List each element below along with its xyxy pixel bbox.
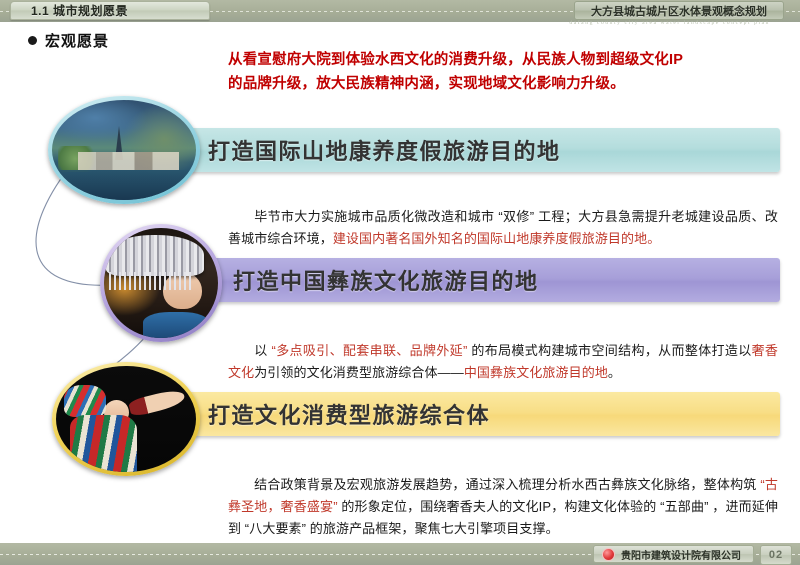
page-number: 02 (769, 549, 783, 561)
macro-vision-heading: 宏观愿景 (28, 30, 109, 51)
paragraph-mountain-wellness: 毕节市大力实施城市品质化微改造和城市 “双修” 工程；大方县急需提升老城建设品质… (228, 206, 778, 250)
photo-ethnic-dancer (56, 366, 196, 472)
footer-bar: 贵阳市建筑设计院有限公司 02 (0, 543, 800, 565)
macro-vision-label: 宏观愿景 (45, 30, 109, 51)
section-tab[interactable]: 1.1 城市规划愿景 (10, 1, 210, 20)
headline-line-1: 从看宣慰府大院到体验水西文化的消费升级，从民族人物到超级文化IP (228, 48, 773, 72)
photo-circle-alpine-town (48, 96, 200, 204)
banner-culture-complex[interactable]: 打造文化消费型旅游综合体 (160, 392, 780, 436)
banner-label: 打造国际山地康养度假旅游目的地 (208, 134, 561, 166)
paragraph-yi-culture: 以 “多点吸引、配套串联、品牌外延” 的布局模式构建城市空间结构，从而整体打造以… (228, 340, 778, 384)
photo-dancer-hat (64, 385, 106, 417)
photo-headdress-fringe (109, 272, 191, 290)
photo-dancer-costume (70, 415, 137, 472)
photo-circle-yi-woman (100, 224, 222, 342)
bullet-dot-icon (28, 36, 37, 45)
banner-yi-culture[interactable]: 打造中国彝族文化旅游目的地 (185, 258, 780, 302)
para-text: 结合政策背景及宏观旅游发展趋势，通过深入梳理分析水西古彝族文化脉络，整体构筑 (254, 477, 760, 492)
photo-collar (143, 312, 209, 338)
company-name: 贵阳市建筑设计院有限公司 (621, 547, 741, 562)
photo-alpine-town (52, 100, 196, 200)
photo-yi-woman (104, 228, 218, 338)
headline-statement: 从看宣慰府大院到体验水西文化的消费升级，从民族人物到超级文化IP 的品牌升级，放… (228, 48, 773, 96)
para-text: 为引领的文化消费型旅游综合体—— (254, 365, 464, 380)
headline-line-2: 的品牌升级，放大民族精神内涵，实现地域文化影响力升级。 (228, 72, 773, 96)
photo-raised-arm (128, 387, 186, 417)
banner-label: 打造中国彝族文化旅游目的地 (233, 264, 539, 296)
photo-circle-dancer (52, 362, 200, 476)
photo-houses (78, 152, 179, 170)
paragraph-culture-complex: 结合政策背景及宏观旅游发展趋势，通过深入梳理分析水西古彝族文化脉络，整体构筑 “… (228, 474, 778, 540)
para-text-highlight: 中国彝族文化旅游目的地 (464, 365, 608, 380)
project-title-label: 大方县城古城片区水体景观概念规划 (591, 3, 767, 19)
project-title-chip: 大方县城古城片区水体景观概念规划 (574, 1, 784, 20)
banner-mountain-wellness[interactable]: 打造国际山地康养度假旅游目的地 (160, 128, 780, 172)
photo-lake (52, 170, 196, 200)
para-text: 。 (608, 365, 621, 380)
page-number-chip: 02 (760, 545, 792, 565)
banner-label: 打造文化消费型旅游综合体 (208, 398, 490, 430)
photo-silver-headdress (106, 235, 204, 277)
project-subtitle: dafang county city area water landscape … (569, 20, 770, 26)
para-text: 以 (254, 343, 272, 358)
section-tab-label: 1.1 城市规划愿景 (31, 2, 128, 19)
company-credit: 贵阳市建筑设计院有限公司 (593, 545, 754, 563)
para-text-highlight: “多点吸引、配套串联、品牌外延” (272, 343, 468, 358)
para-text: 的布局模式构建城市空间结构，从而整体打造以 (467, 343, 751, 358)
top-header-bar: 1.1 城市规划愿景 大方县城古城片区水体景观概念规划 (0, 0, 800, 22)
para-text-highlight: 建设国内著名国外知名的国际山地康养度假旅游目的地。 (333, 231, 661, 246)
red-circle-logo-icon (602, 548, 615, 561)
